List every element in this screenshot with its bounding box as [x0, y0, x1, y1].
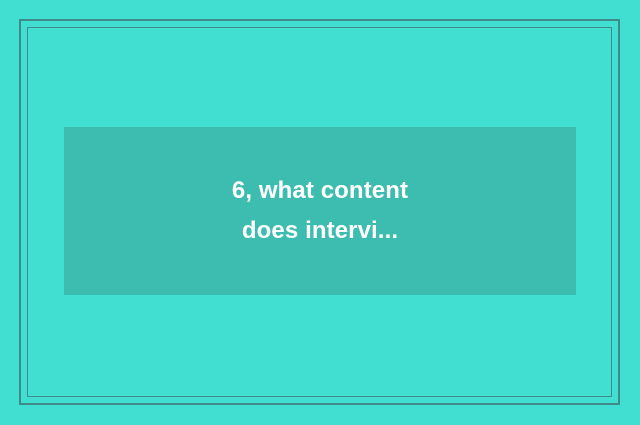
panel-title-text: 6, what content does intervi...: [218, 171, 422, 251]
screenshot-canvas: 6, what content does intervi...: [0, 0, 640, 425]
content-panel: 6, what content does intervi...: [64, 127, 576, 295]
